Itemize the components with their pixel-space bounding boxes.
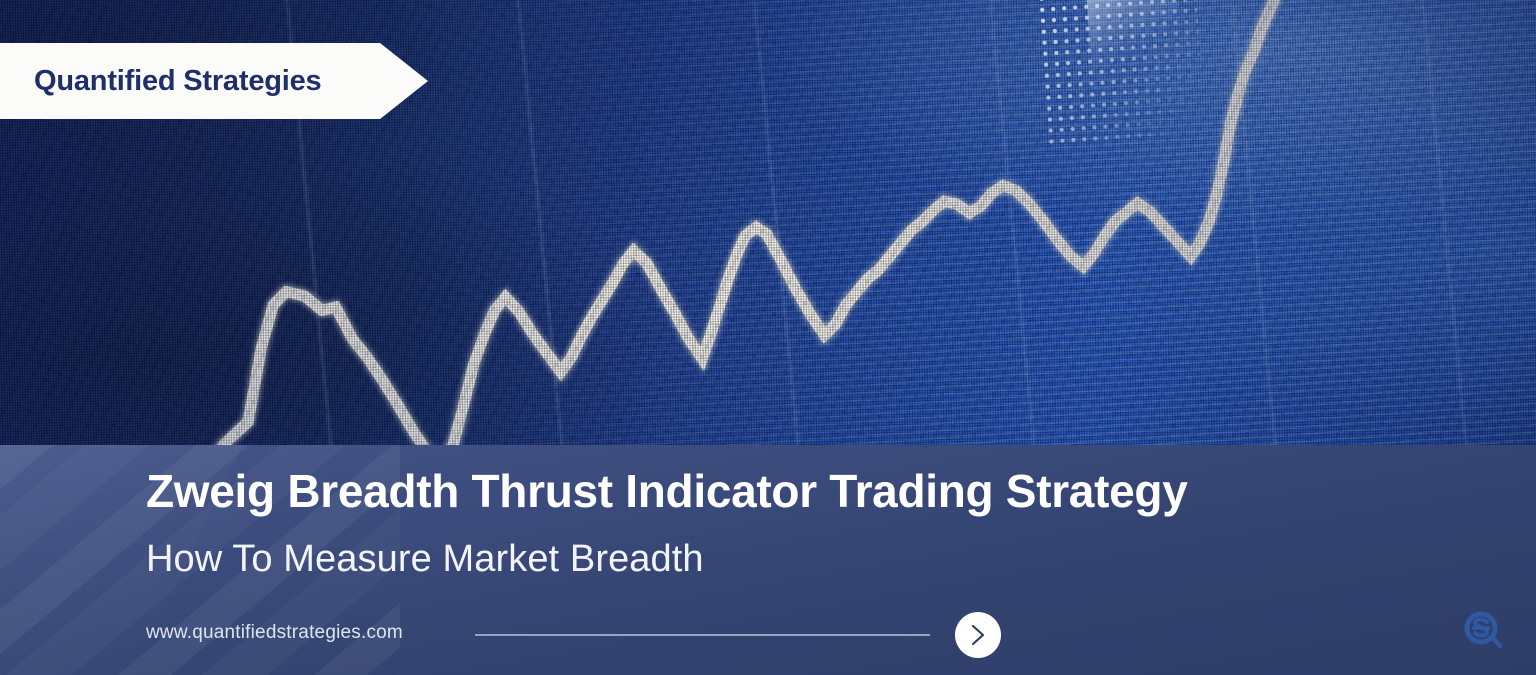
page-subtitle: How To Measure Market Breadth (146, 538, 704, 582)
brand-logo-banner[interactable]: Quantified Strategies (0, 43, 428, 119)
page-title: Zweig Breadth Thrust Indicator Trading S… (146, 468, 1187, 514)
brand-logo-text: Quantified Strategies (34, 65, 321, 98)
website-url: www.quantifiedstrategies.com (146, 622, 403, 644)
horizontal-divider (475, 634, 930, 636)
qs-monogram-watermark (1461, 608, 1505, 652)
chevron-right-icon (968, 624, 988, 646)
halftone-dots-overlay (1034, 0, 1206, 146)
hero-banner: Quantified Strategies Zweig Breadth Thru… (0, 0, 1536, 675)
next-button[interactable] (955, 612, 1001, 658)
